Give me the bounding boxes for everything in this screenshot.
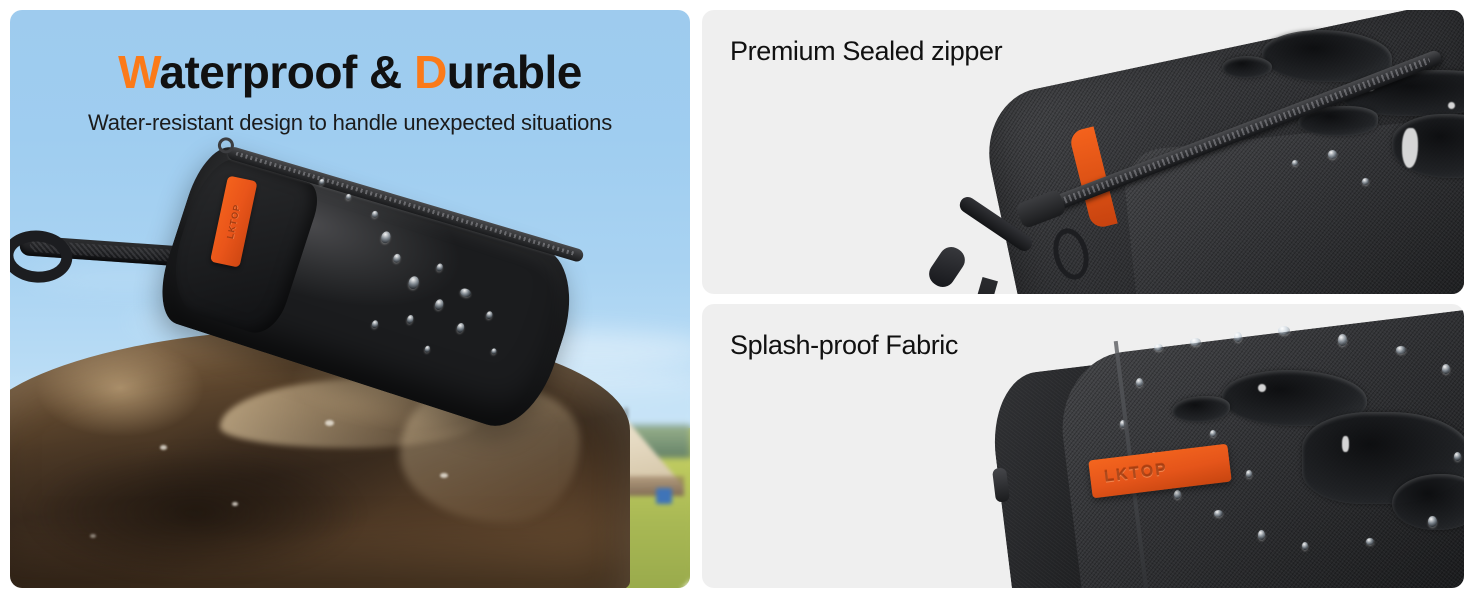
rock-speck [160,445,167,450]
feature-panels-column: Premium Sealed zipper Splash-proof [702,10,1464,588]
brand-tab-label: LKTOP [225,203,242,240]
hero-panel: Waterproof & Durable Water-resistant des… [10,10,690,588]
zipper-pull-grip [924,242,969,291]
water-droplet [1174,490,1181,499]
water-droplet [1210,430,1216,437]
feature-title: Splash-proof Fabric [730,330,958,361]
hero-text-block: Waterproof & Durable Water-resistant des… [10,48,690,136]
rock-shadow [30,448,360,578]
headline-accent-d: D [414,46,447,98]
water-highlight [1448,102,1455,109]
water-droplet [1214,510,1223,517]
water-droplet [1454,452,1461,461]
feature-panel-fabric: Splash-proof Fabric LKTOP [702,304,1464,588]
product-feature-banner: Waterproof & Durable Water-resistant des… [0,0,1464,600]
water-droplet [1258,530,1265,540]
feature-title: Premium Sealed zipper [730,36,1002,67]
rock-speck [90,534,96,538]
cooler-box [656,488,672,504]
water-droplet [1366,538,1374,545]
water-splash [1222,56,1272,78]
hanging-strap [966,277,998,294]
water-droplet [1338,334,1347,346]
water-droplet [1154,344,1163,351]
rock-speck [232,502,238,506]
hero-headline: Waterproof & Durable [10,48,690,96]
water-droplet [1292,160,1298,166]
water-droplet [1362,178,1369,185]
water-droplet [1396,346,1406,354]
feature-panel-zipper: Premium Sealed zipper [702,10,1464,294]
water-droplet [1190,338,1201,346]
water-highlight [1342,436,1349,452]
water-droplet [1442,364,1450,374]
water-highlight [1258,384,1266,392]
headline-accent-w: W [118,46,159,98]
water-droplet [1278,326,1290,335]
water-droplet [1136,378,1143,387]
water-droplet [1428,516,1437,527]
water-droplet [1234,332,1242,342]
water-droplet [1328,150,1337,159]
water-droplet [1302,542,1308,550]
headline-part-1: aterproof & [159,46,414,98]
headline-part-2: urable [447,46,582,98]
brand-tab-label: LKTOP [1103,461,1169,487]
water-droplet [1246,470,1252,478]
hero-subheadline: Water-resistant design to handle unexpec… [10,110,690,136]
